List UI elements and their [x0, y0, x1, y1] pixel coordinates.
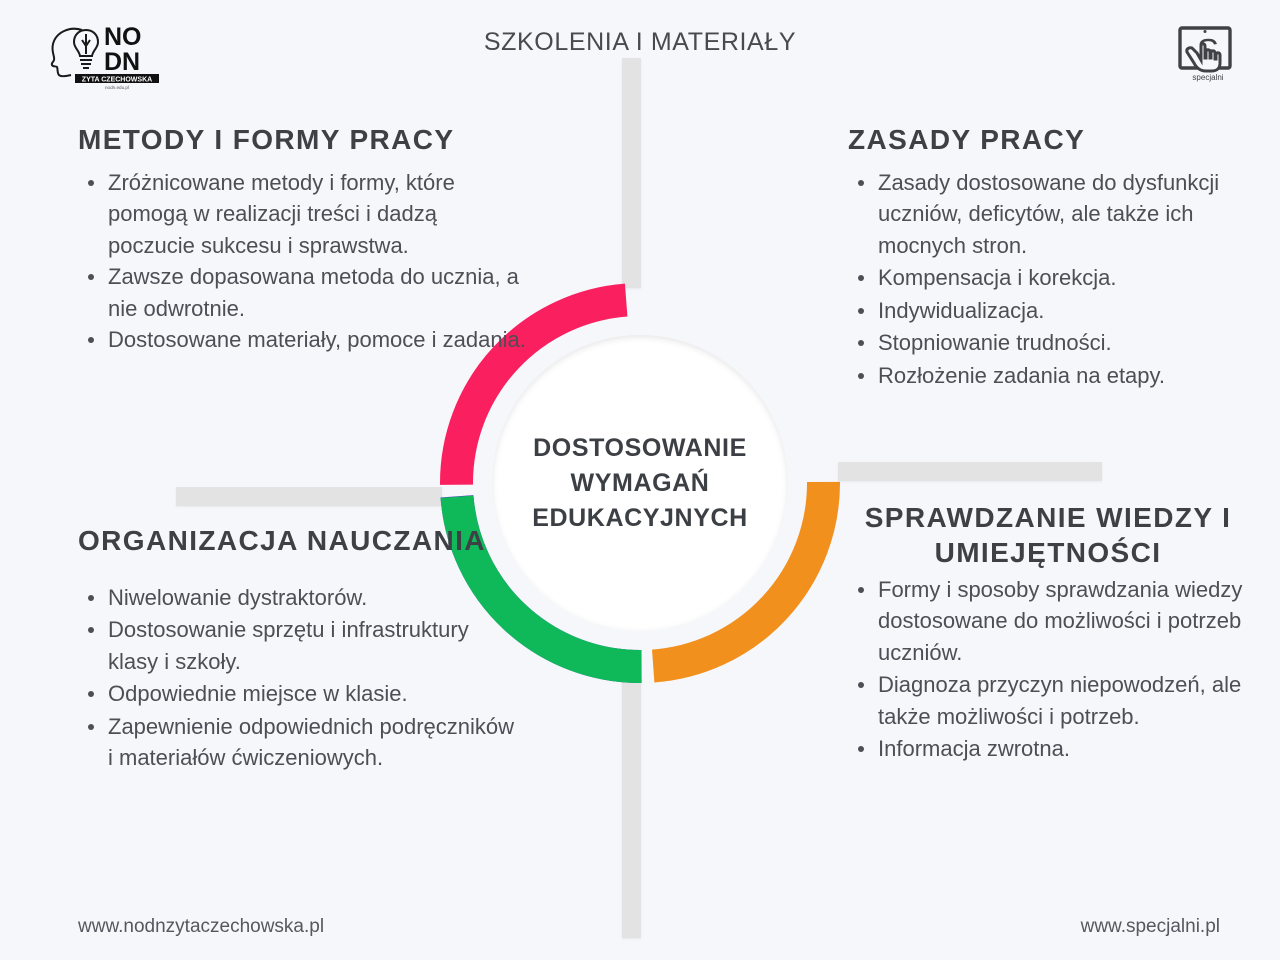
specjalni-subtitle: specjalni	[1192, 73, 1223, 82]
list-item: Formy i sposoby sprawdzania wiedzy dosto…	[878, 574, 1248, 668]
list-item: Zapewnienie odpowiednich podręczników i …	[108, 711, 518, 774]
footer-url-right[interactable]: www.specjalni.pl	[1081, 916, 1220, 938]
section-zasady-pracy: ZASADY PRACY Zasady dostosowane do dysfu…	[848, 122, 1248, 392]
list-item: Dostosowanie sprzętu i infrastruktury kl…	[108, 614, 518, 677]
footer-url-left[interactable]: www.nodnzytaczechowska.pl	[78, 916, 324, 938]
section-title: ORGANIZACJA NAUCZANIA	[78, 523, 518, 558]
list-item: Zróżnicowane metody i formy, które pomog…	[108, 167, 528, 261]
list-item: Kompensacja i korekcja.	[878, 262, 1248, 293]
donut-center-label: DOSTOSOWANIE WYMAGAŃ EDUKACYJNYCH	[492, 335, 788, 631]
section-organizacja-nauczania: ORGANIZACJA NAUCZANIA Niwelowanie dystra…	[78, 523, 518, 775]
list-item: Zasady dostosowane do dysfunkcji uczniów…	[878, 167, 1248, 261]
center-line-1: DOSTOSOWANIE	[533, 435, 747, 461]
divider-bar-left	[176, 487, 442, 506]
section-title: METODY I FORMY PRACY	[78, 122, 528, 157]
section-title: ZASADY PRACY	[848, 122, 1248, 157]
list-item: Diagnoza przyczyn niepowodzeń, ale także…	[878, 669, 1248, 732]
center-line-3: EDUKACYJNYCH	[532, 505, 748, 531]
list-item: Niwelowanie dystraktorów.	[108, 582, 518, 613]
section-list: Zasady dostosowane do dysfunkcji uczniów…	[848, 167, 1248, 391]
divider-bar-right	[838, 462, 1102, 481]
logo-tagline: nodn.edu.pl	[105, 85, 129, 90]
list-item: Informacja zwrotna.	[878, 733, 1248, 764]
list-item: Rozłożenie zadania na etapy.	[878, 360, 1248, 391]
center-line-2: WYMAGAŃ	[571, 470, 710, 496]
section-metody-i-formy-pracy: METODY I FORMY PRACY Zróżnicowane metody…	[78, 122, 528, 356]
list-item: Dostosowane materiały, pomoce i zadania.	[108, 324, 528, 355]
list-item: Odpowiednie miejsce w klasie.	[108, 678, 518, 709]
list-item: Zawsze dopasowana metoda do ucznia, a ni…	[108, 261, 528, 324]
infographic-canvas: NO DN ZYTA CZECHOWSKA nodn.edu.pl S spec…	[0, 0, 1280, 960]
section-list: Zróżnicowane metody i formy, które pomog…	[78, 167, 528, 356]
divider-bar-top	[622, 58, 641, 288]
section-sprawdzanie-wiedzy-i-umiejetnosci: SPRAWDZANIE WIEDZY I UMIEJĘTNOŚCI Formy …	[848, 500, 1248, 766]
logo-subtitle: ZYTA CZECHOWSKA	[82, 76, 152, 83]
divider-bar-bottom	[622, 676, 641, 938]
section-list: Formy i sposoby sprawdzania wiedzy dosto…	[848, 574, 1248, 765]
section-title: SPRAWDZANIE WIEDZY I UMIEJĘTNOŚCI	[848, 500, 1248, 570]
section-list: Niwelowanie dystraktorów. Dostosowanie s…	[78, 582, 518, 774]
list-item: Stopniowanie trudności.	[878, 327, 1248, 358]
page-title: SZKOLENIA I MATERIAŁY	[0, 28, 1280, 57]
list-item: Indywidualizacja.	[878, 295, 1248, 326]
